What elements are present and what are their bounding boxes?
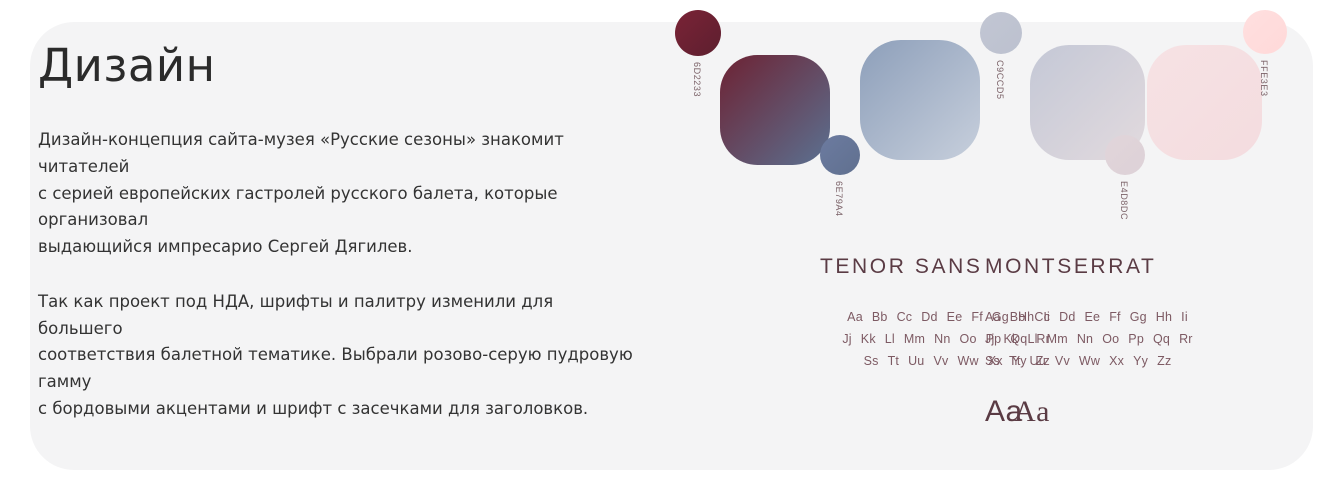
color-swatch-burgundy-to-slate (720, 55, 830, 165)
alphabet-pair: Vv (1055, 351, 1070, 373)
alphabet-pair: Aa (985, 307, 1001, 329)
color-swatch-dusty-mauve (1105, 135, 1145, 175)
page-title: Дизайн (38, 42, 638, 89)
color-hex-label: C9CCD5 (995, 60, 1005, 100)
alphabet-pair: Mm (1047, 329, 1068, 351)
typeface-block-secondary: MONTSERRAT AaBbCcDdEeFfGgHhIiJjKkLlMmNnO… (985, 255, 1215, 429)
paragraph-intro: Дизайн-концепция сайта-музея «Русские се… (38, 127, 638, 261)
color-hex-label: E4D8DC (1119, 181, 1129, 220)
alphabet-pair: Ii (1181, 307, 1188, 329)
alphabet-pair: Ll (1027, 329, 1037, 351)
text-column: Дизайн Дизайн-концепция сайта-музея «Рус… (38, 42, 638, 422)
alphabet-row: AaBbCcDdEeFfGgHhIi (985, 307, 1215, 329)
alphabet-pair: Hh (1156, 307, 1172, 329)
color-hex-label: 6D2233 (692, 62, 702, 97)
alphabet-pair: Vv (933, 351, 948, 373)
alphabet-pair: Gg (1130, 307, 1147, 329)
typography-section: TENOR SANS AaBbCcDdEeFfGgHhIiJjKkLlMmNnO… (655, 255, 1315, 455)
alphabet-pair: Ss (864, 351, 879, 373)
color-swatch-soft-pink (1243, 10, 1287, 54)
alphabet-pair: Ee (947, 307, 963, 329)
alphabet-pair: Uu (908, 351, 924, 373)
alphabet-pair: Mm (904, 329, 925, 351)
color-swatch-burgundy (675, 10, 721, 56)
alphabet-pair: Nn (1077, 329, 1093, 351)
alphabet-pair: Rr (1179, 329, 1193, 351)
color-palette: 6D22336E79A4C9CCD5E4D8DCFFE3E3 (655, 0, 1315, 240)
alphabet-pair: Jj (985, 329, 994, 351)
alphabet-pair: Nn (934, 329, 950, 351)
alphabet-specimen: AaBbCcDdEeFfGgHhIiJjKkLlMmNnOoPpQqRrSsTt… (985, 307, 1215, 373)
color-swatch-steel-blue-grey (860, 40, 980, 160)
alphabet-pair: Jj (842, 329, 851, 351)
alphabet-pair: Ee (1084, 307, 1100, 329)
color-swatch-light-periwinkle (980, 12, 1022, 54)
alphabet-pair: Uu (1030, 351, 1046, 373)
alphabet-row: JjKkLlMmNnOoPpQqRr (985, 329, 1215, 351)
alphabet-pair: Dd (1059, 307, 1075, 329)
large-specimen: Aa (985, 395, 1215, 429)
alphabet-pair: Bb (1010, 307, 1026, 329)
alphabet-pair: Cc (897, 307, 913, 329)
alphabet-pair: Oo (1102, 329, 1119, 351)
alphabet-pair: Ff (971, 307, 983, 329)
color-hex-label: 6E79A4 (834, 181, 844, 217)
alphabet-pair: Kk (861, 329, 876, 351)
color-hex-label: FFE3E3 (1259, 60, 1269, 97)
alphabet-pair: Ff (1109, 307, 1121, 329)
color-swatch-blush-pink (1147, 45, 1262, 160)
alphabet-pair: Bb (872, 307, 888, 329)
alphabet-pair: Yy (1133, 351, 1148, 373)
alphabet-pair: Ww (1079, 351, 1100, 373)
alphabet-pair: Ww (957, 351, 978, 373)
alphabet-pair: Oo (960, 329, 977, 351)
alphabet-pair: Ss (985, 351, 1000, 373)
alphabet-pair: Ll (885, 329, 895, 351)
alphabet-pair: Zz (1157, 351, 1171, 373)
slide-canvas: Дизайн Дизайн-концепция сайта-музея «Рус… (0, 0, 1340, 492)
alphabet-pair: Tt (1009, 351, 1021, 373)
alphabet-pair: Xx (1109, 351, 1124, 373)
alphabet-pair: Tt (888, 351, 900, 373)
alphabet-pair: Aa (847, 307, 863, 329)
alphabet-pair: Pp (1128, 329, 1144, 351)
alphabet-pair: Qq (1153, 329, 1170, 351)
alphabet-pair: Kk (1003, 329, 1018, 351)
typeface-name: MONTSERRAT (985, 255, 1215, 279)
alphabet-pair: Dd (921, 307, 937, 329)
alphabet-row: SsTtUuVvWwXxYyZz (985, 351, 1215, 373)
paragraph-details: Так как проект под НДА, шрифты и палитру… (38, 289, 638, 423)
alphabet-pair: Cc (1034, 307, 1050, 329)
color-swatch-slate-blue (820, 135, 860, 175)
